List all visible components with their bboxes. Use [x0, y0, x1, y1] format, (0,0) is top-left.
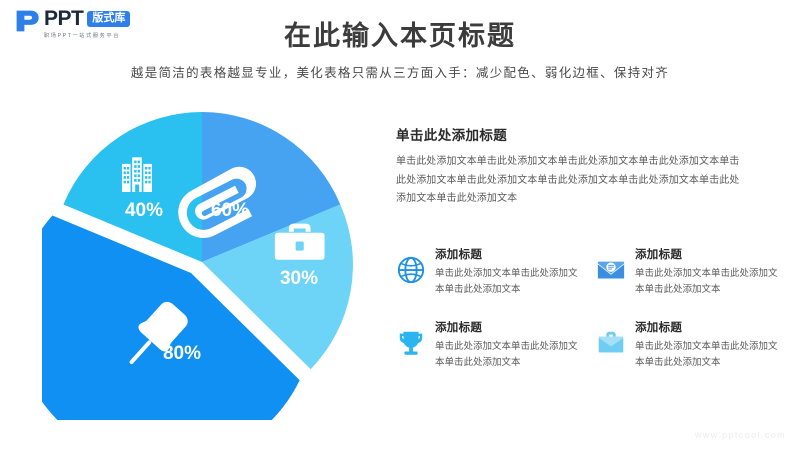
- pie-chart-svg: 40% 60% 30% 80%: [42, 104, 362, 420]
- feature-title: 添加标题: [435, 246, 582, 262]
- page-subtitle: 越是简洁的表格越显专业，美化表格只需从三方面入手：减少配色、弱化边框、保持对齐: [0, 62, 800, 81]
- pie-label-pushpin: 80%: [163, 343, 201, 364]
- content-panel: 单击此处添加标题 单击此处添加文本单击此处添加文本单击此处添加文本单击此处添加文…: [396, 124, 778, 209]
- panel-body-text: 单击此处添加文本单击此处添加文本单击此处添加文本单击此处添加文本单击此处添加文本…: [396, 153, 748, 209]
- globe-icon: [396, 255, 426, 285]
- feature-item-briefcase[interactable]: 添加标题 单击此处添加文本单击此处添加文本单击此处添加文本: [596, 319, 782, 372]
- feature-title: 添加标题: [635, 319, 782, 335]
- pie-label-paperclip: 60%: [211, 200, 249, 221]
- feature-item-trophy[interactable]: 添加标题 单击此处添加文本单击此处添加文本单击此处添加文本: [396, 319, 582, 372]
- briefcase-icon: [596, 328, 626, 358]
- pie-chart: 40% 60% 30% 80%: [42, 104, 362, 420]
- feature-desc: 单击此处添加文本单击此处添加文本单击此处添加文本: [635, 266, 782, 299]
- feature-grid: 添加标题 单击此处添加文本单击此处添加文本单击此处添加文本 添加标题 单击此处添…: [396, 246, 782, 371]
- pie-label-briefcase: 30%: [280, 268, 318, 289]
- trophy-icon: [396, 328, 426, 358]
- watermark: www.pptcool.com: [695, 430, 786, 440]
- feature-title: 添加标题: [435, 319, 582, 335]
- feature-title: 添加标题: [635, 246, 782, 262]
- feature-desc: 单击此处添加文本单击此处添加文本单击此处添加文本: [435, 339, 582, 372]
- pie-label-building: 40%: [125, 200, 163, 221]
- envelope-icon: [596, 255, 626, 285]
- panel-heading: 单击此处添加标题: [396, 124, 778, 144]
- page-title: 在此输入本页标题: [0, 14, 800, 53]
- feature-desc: 单击此处添加文本单击此处添加文本单击此处添加文本: [635, 339, 782, 372]
- feature-item-globe[interactable]: 添加标题 单击此处添加文本单击此处添加文本单击此处添加文本: [396, 246, 582, 299]
- feature-item-envelope[interactable]: 添加标题 单击此处添加文本单击此处添加文本单击此处添加文本: [596, 246, 782, 299]
- feature-desc: 单击此处添加文本单击此处添加文本单击此处添加文本: [435, 266, 582, 299]
